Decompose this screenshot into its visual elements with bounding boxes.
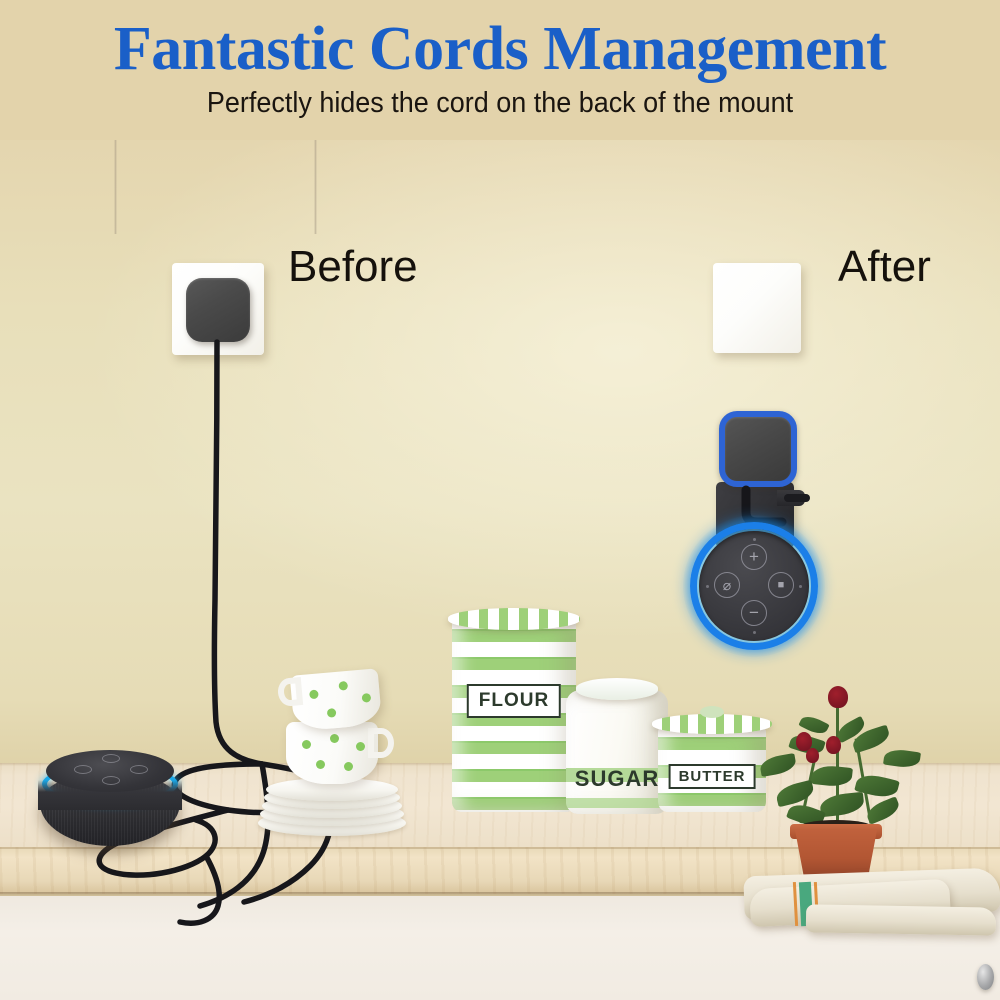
teacup-handle-lower [368,728,394,758]
volume-down-button[interactable] [102,776,120,785]
page-title: Fantastic Cords Management [0,16,1000,82]
towel-front [806,904,996,935]
canister-sugar: SUGAR [566,690,668,814]
rose-bloom [806,748,819,763]
canister-butter-knob[interactable] [700,706,724,718]
canister-sugar-lid[interactable] [576,678,658,700]
kitchen-photo: Before After + ⌀ ■ − [0,130,1000,1000]
canister-label: FLOUR [467,684,561,718]
canister-butter: BUTTER [658,724,766,812]
teacup-lower [286,722,378,784]
mic-mute-button[interactable] [74,765,92,774]
canister-flour-lid[interactable] [448,608,580,630]
cord-wall-drop [214,342,262,764]
counter-echo-dot[interactable] [40,748,180,853]
canister-label: BUTTER [669,764,756,789]
canister-flour: FLOUR [452,616,576,812]
header-banner: Fantastic Cords Management Perfectly hid… [0,0,1000,140]
canister-label: SUGAR [569,764,665,794]
cord-mid-sweep [200,764,268,906]
page-subtitle: Perfectly hides the cord on the back of … [35,86,965,120]
rose-bloom [826,736,841,754]
volume-up-button[interactable] [102,754,120,763]
action-button[interactable] [130,765,148,774]
product-infographic: Fantastic Cords Management Perfectly hid… [0,0,1000,1000]
rose-bloom [828,686,848,708]
